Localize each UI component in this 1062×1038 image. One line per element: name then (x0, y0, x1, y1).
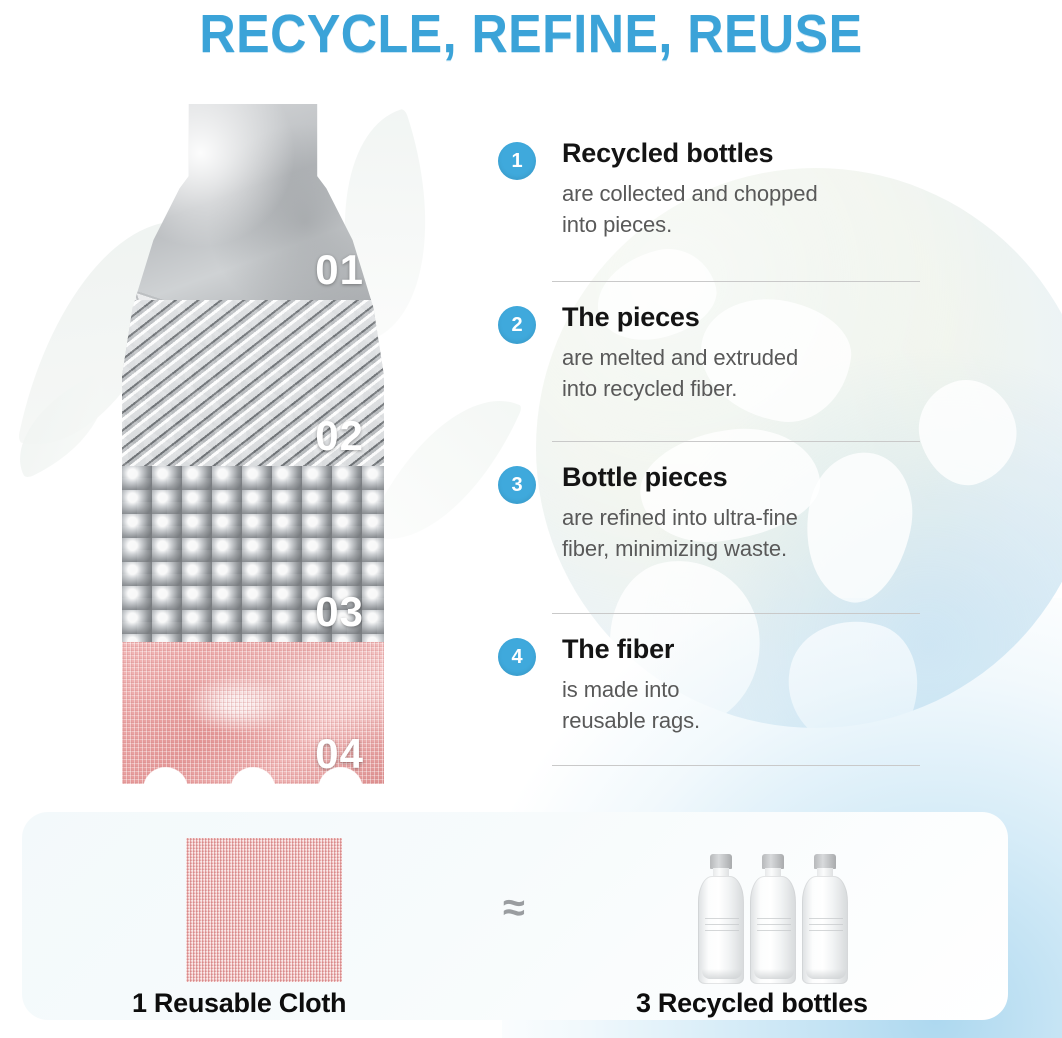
leaf-watermark (0, 373, 126, 480)
comparison-left-label: 1 Reusable Cloth (132, 988, 346, 1019)
bottle-base (806, 969, 846, 979)
step-item-2: 2 The pieces are melted and extruded int… (496, 300, 936, 458)
step-body-line: are refined into ultra-fine (562, 502, 936, 533)
step-body-4: is made into reusable rags. (562, 674, 936, 736)
step-body-line: fiber, minimizing waste. (562, 533, 936, 564)
step-body-line: is made into (562, 674, 936, 705)
segment-number-01: 01 (315, 246, 364, 294)
step-item-3: 3 Bottle pieces are refined into ultra-f… (496, 460, 936, 630)
bottle-body (698, 876, 744, 984)
comparison-right-label: 3 Recycled bottles (636, 988, 868, 1019)
bottle-icon (802, 854, 848, 984)
bottle-grip-rings (809, 913, 843, 931)
step-body-1: are collected and chopped into pieces. (562, 178, 936, 240)
step-body-line: reusable rags. (562, 705, 936, 736)
bottle-segment-01: 01 (122, 104, 384, 300)
segment-number-02: 02 (315, 412, 364, 460)
step-badge-4: 4 (498, 638, 536, 676)
bottle-body (802, 876, 848, 984)
step-badge-1: 1 (498, 142, 536, 180)
step-body-2: are melted and extruded into recycled fi… (562, 342, 936, 404)
step-body-line: are collected and chopped (562, 178, 936, 209)
step-divider (552, 765, 920, 766)
step-title-4: The fiber (562, 632, 936, 666)
bottles-group-image (698, 832, 864, 984)
bottle-cap (710, 854, 732, 869)
bottle-base-scallop (122, 739, 384, 784)
approximately-equal-icon: ≈ (484, 886, 544, 930)
bottle-segment-04: 04 (122, 642, 384, 784)
step-item-4: 4 The fiber is made into reusable rags. (496, 632, 936, 782)
bottle-cap (814, 854, 836, 869)
step-body-line: are melted and extruded (562, 342, 936, 373)
step-badge-2: 2 (498, 306, 536, 344)
bottle-base (754, 969, 794, 979)
infographic-canvas: RECYCLE, REFINE, REUSE 01 02 03 04 1 Rec… (0, 0, 1062, 1038)
bottle-icon (698, 854, 744, 984)
bottle-segment-02: 02 (122, 300, 384, 466)
step-item-1: 1 Recycled bottles are collected and cho… (496, 136, 936, 298)
step-divider (552, 281, 920, 282)
steps-list: 1 Recycled bottles are collected and cho… (496, 134, 936, 782)
step-divider (552, 613, 920, 614)
bottle-grip-rings (705, 913, 739, 931)
bottle-base (702, 969, 742, 979)
bottle-body (750, 876, 796, 984)
bottle-diagram: 01 02 03 04 (122, 104, 384, 784)
comparison-panel: ≈ (22, 812, 1008, 1020)
step-title-3: Bottle pieces (562, 460, 936, 494)
cloth-swatch-image (186, 838, 342, 982)
bottle-icon (750, 854, 796, 984)
segment-number-03: 03 (315, 588, 364, 636)
bottle-grip-rings (757, 913, 791, 931)
step-body-line: into pieces. (562, 209, 936, 240)
step-divider (552, 441, 920, 442)
step-title-1: Recycled bottles (562, 136, 936, 170)
step-badge-3: 3 (498, 466, 536, 504)
bottle-segment-03: 03 (122, 466, 384, 642)
step-title-2: The pieces (562, 300, 936, 334)
page-title: RECYCLE, REFINE, REUSE (37, 2, 1025, 66)
bottle-cap (762, 854, 784, 869)
step-body-3: are refined into ultra-fine fiber, minim… (562, 502, 936, 564)
step-body-line: into recycled fiber. (562, 373, 936, 404)
